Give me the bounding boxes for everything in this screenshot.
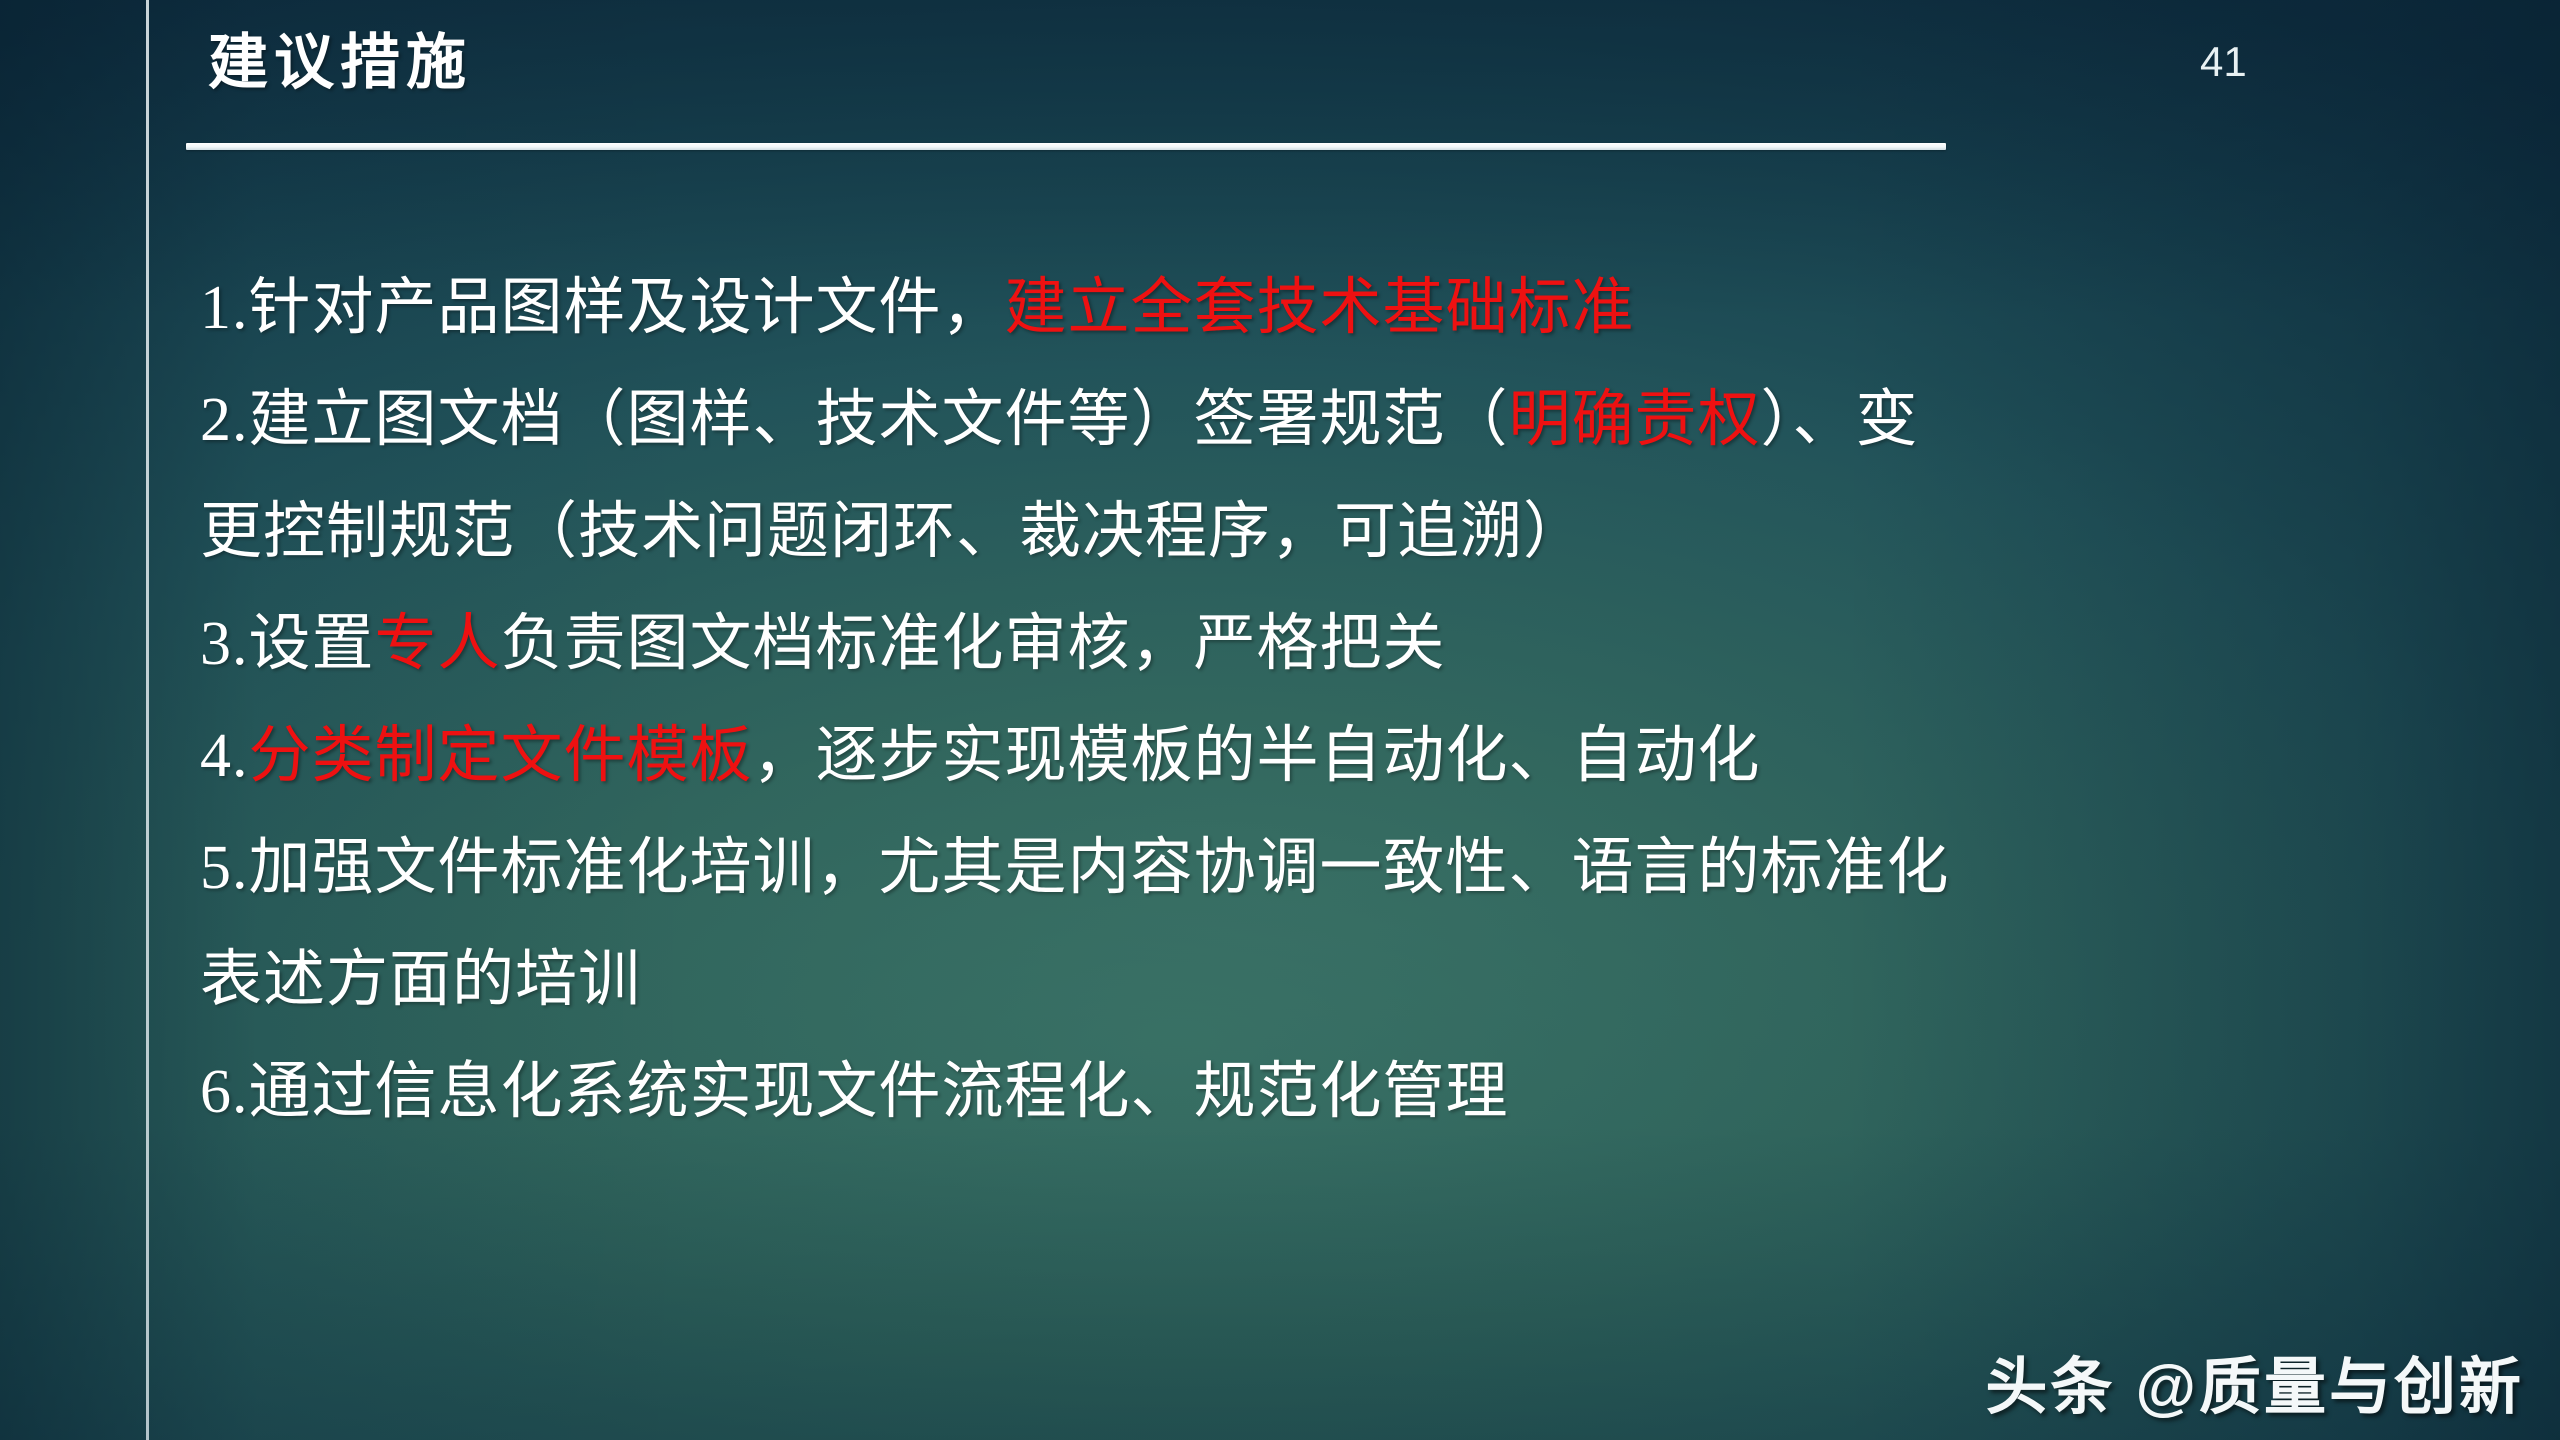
emphasis-text: 建立全套技术基础标准	[1005, 274, 1635, 342]
emphasis-text: 专人	[375, 610, 501, 678]
left-vertical-rule	[146, 0, 149, 1440]
bullet-line: 1.针对产品图样及设计文件，建立全套技术基础标准	[200, 252, 2440, 364]
presentation-slide: 建议措施 41 1.针对产品图样及设计文件，建立全套技术基础标准2.建立图文档（…	[0, 0, 2560, 1440]
title-underline-rule	[186, 143, 1946, 150]
slide-page-number: 41	[2200, 38, 2247, 86]
body-text: 负责图文档标准化审核，严格把关	[501, 610, 1446, 678]
body-text: 4.	[200, 722, 249, 790]
body-text: 2.建立图文档（图样、技术文件等）签署规范（	[200, 386, 1509, 454]
page-title: 建议措施	[208, 14, 472, 101]
emphasis-text: 明确责权	[1509, 386, 1761, 454]
body-text: 1.针对产品图样及设计文件，	[200, 274, 1005, 342]
body-text: ，逐步实现模板的半自动化、自动化	[753, 722, 1761, 790]
bullet-line: 3.设置专人负责图文档标准化审核，严格把关	[200, 588, 2440, 700]
body-text: 表述方面的培训	[200, 946, 641, 1014]
body-text: 3.设置	[200, 610, 375, 678]
bullet-line: 更控制规范（技术问题闭环、裁决程序，可追溯）	[200, 476, 2440, 588]
watermark-label: 头条 @质量与创新	[1985, 1336, 2524, 1426]
bullet-line: 5.加强文件标准化培训，尤其是内容协调一致性、语言的标准化	[200, 812, 2440, 924]
bullet-line: 表述方面的培训	[200, 924, 2440, 1036]
bullet-list: 1.针对产品图样及设计文件，建立全套技术基础标准2.建立图文档（图样、技术文件等…	[200, 252, 2440, 1148]
body-text: ）、变	[1761, 386, 1919, 454]
bullet-line: 4.分类制定文件模板，逐步实现模板的半自动化、自动化	[200, 700, 2440, 812]
body-text: 5.加强文件标准化培训，尤其是内容协调一致性、语言的标准化	[200, 834, 1950, 902]
body-text: 更控制规范（技术问题闭环、裁决程序，可追溯）	[200, 498, 1586, 566]
bullet-line: 6.通过信息化系统实现文件流程化、规范化管理	[200, 1036, 2440, 1148]
body-text: 6.通过信息化系统实现文件流程化、规范化管理	[200, 1058, 1509, 1126]
emphasis-text: 分类制定文件模板	[249, 722, 753, 790]
bullet-line: 2.建立图文档（图样、技术文件等）签署规范（明确责权）、变	[200, 364, 2440, 476]
